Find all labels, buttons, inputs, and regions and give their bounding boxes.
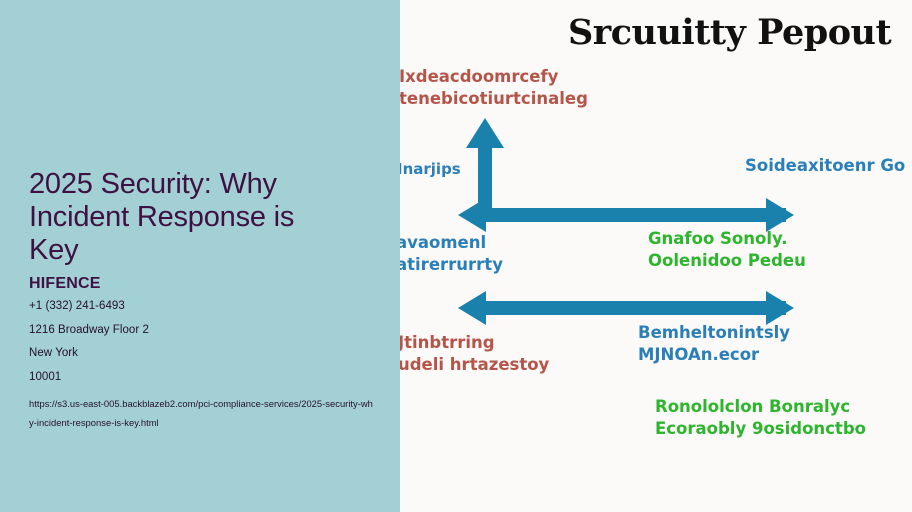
diagram-label-top-left: Ixdeacdoomrcefy tenebicotiurtcinaleg <box>400 66 588 110</box>
diagram-label-mid-left: avaomenl atirerrurrty <box>400 232 503 276</box>
contact-address-street: 1216 Broadway Floor 2 <box>29 325 377 337</box>
diagram-label-right-upper-blue-line1: Soideaxitoenr Go <box>745 155 905 177</box>
diagram-label-bottom-left-line1: Jtinbtrring <box>400 332 549 354</box>
brand-name: HIFENCE <box>29 275 377 293</box>
arrow-horizontal-lower-icon <box>458 291 794 325</box>
diagram-label-top-left-line2: tenebicotiurtcinaleg <box>400 88 588 110</box>
diagram-label-mid-left-small-line1: Inarjips <box>400 160 461 180</box>
diagram-label-right-lower-blue-line1: Bemheltonintsly <box>638 322 790 344</box>
diagram-label-right-upper-green-line2: Oolenidoo Pedeu <box>648 250 806 272</box>
diagram-label-right-lower-green: Ronololclon Bonralyc Ecoraobly 9osidonct… <box>655 396 866 440</box>
diagram-label-right-lower-green-line1: Ronololclon Bonralyc <box>655 396 866 418</box>
contact-address-city: New York <box>29 348 377 360</box>
left-info-panel: 2025 Security: Why Incident Response is … <box>0 0 400 512</box>
diagram-label-right-upper-green-line1: Gnafoo Sonoly. <box>648 228 806 250</box>
diagram-label-right-upper-green: Gnafoo Sonoly. Oolenidoo Pedeu <box>648 228 806 272</box>
page-title: 2025 Security: Why Incident Response is … <box>29 168 339 266</box>
arrow-horizontal-upper-icon <box>458 198 794 232</box>
source-url[interactable]: https://s3.us-east-005.backblazeb2.com/p… <box>29 395 374 432</box>
diagram-label-right-lower-green-line2: Ecoraobly 9osidonctbo <box>655 418 866 440</box>
contact-phone: +1 (332) 241-6493 <box>29 301 377 313</box>
diagram-label-right-lower-blue-line2: MJNOAn.ecor <box>638 344 790 366</box>
diagram-label-right-lower-blue: Bemheltonintsly MJNOAn.ecor <box>638 322 790 366</box>
diagram-label-mid-left-small: Inarjips <box>400 160 461 180</box>
diagram-label-bottom-left-line2: udeli hrtazestoy <box>400 354 549 376</box>
diagram-label-top-left-line1: Ixdeacdoomrcefy <box>400 66 588 88</box>
diagram-label-bottom-left: Jtinbtrring udeli hrtazestoy <box>400 332 549 376</box>
left-panel-content: 2025 Security: Why Incident Response is … <box>29 168 377 432</box>
contact-address-zip: 10001 <box>29 372 377 384</box>
diagram-label-mid-left-line1: avaomenl <box>400 232 503 254</box>
slide-canvas: 2025 Security: Why Incident Response is … <box>0 0 912 512</box>
diagram-label-mid-left-line2: atirerrurrty <box>400 254 503 276</box>
diagram-panel: Srcuuitty Pepout Ixdeacdoomrcefy <box>400 0 912 512</box>
diagram-label-right-upper-blue: Soideaxitoenr Go <box>745 155 905 177</box>
